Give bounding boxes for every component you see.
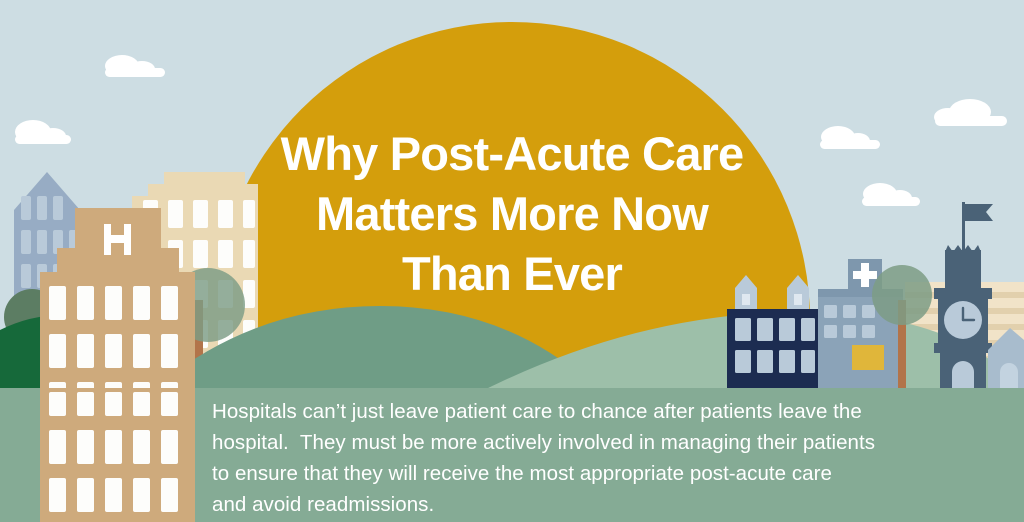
tower-arched-door bbox=[952, 361, 974, 392]
infographic-header-graphic: Why Post-Acute Care Matters More Now Tha… bbox=[0, 0, 1024, 522]
house-arched-door bbox=[1000, 363, 1018, 392]
clinic-entrance-awning bbox=[852, 345, 884, 370]
illustration-canvas bbox=[0, 0, 1024, 522]
hospital-building-foreground-section bbox=[40, 388, 195, 522]
